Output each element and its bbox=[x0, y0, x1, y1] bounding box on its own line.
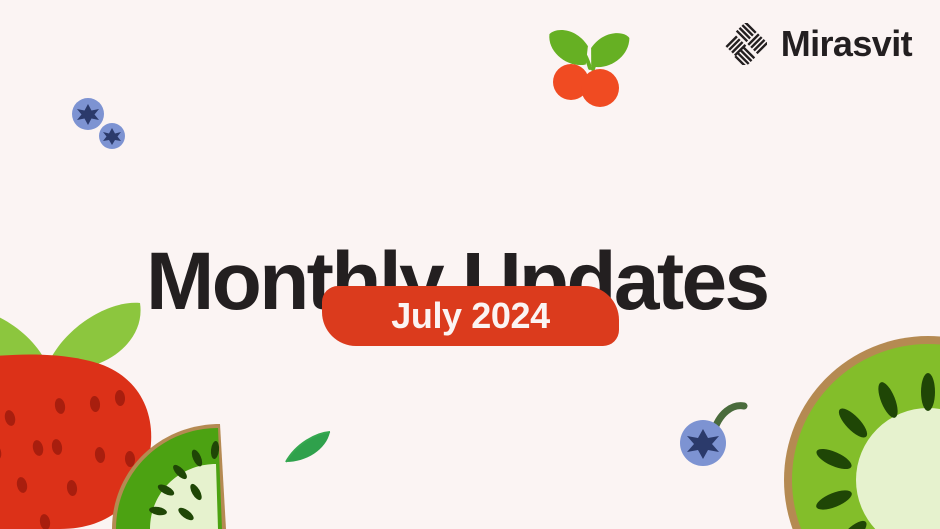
date-badge-label: July 2024 bbox=[391, 298, 550, 334]
kiwi-slice-illustration bbox=[784, 336, 940, 529]
strawberry-illustration bbox=[0, 303, 151, 529]
blueberry-pair-illustration bbox=[72, 98, 125, 149]
date-badge: July 2024 bbox=[322, 286, 619, 346]
brand-lockup: Mirasvit bbox=[725, 22, 912, 66]
mirasvit-pinwheel-icon bbox=[725, 23, 767, 65]
monthly-updates-banner: Mirasvit Monthly Updates July 2024 bbox=[0, 0, 940, 529]
kiwi-wedge-illustration bbox=[112, 424, 226, 529]
blueberry-with-stem-illustration bbox=[680, 406, 744, 466]
brand-name: Mirasvit bbox=[781, 26, 912, 62]
cherries-illustration bbox=[549, 27, 630, 107]
single-leaf-illustration bbox=[286, 432, 330, 462]
